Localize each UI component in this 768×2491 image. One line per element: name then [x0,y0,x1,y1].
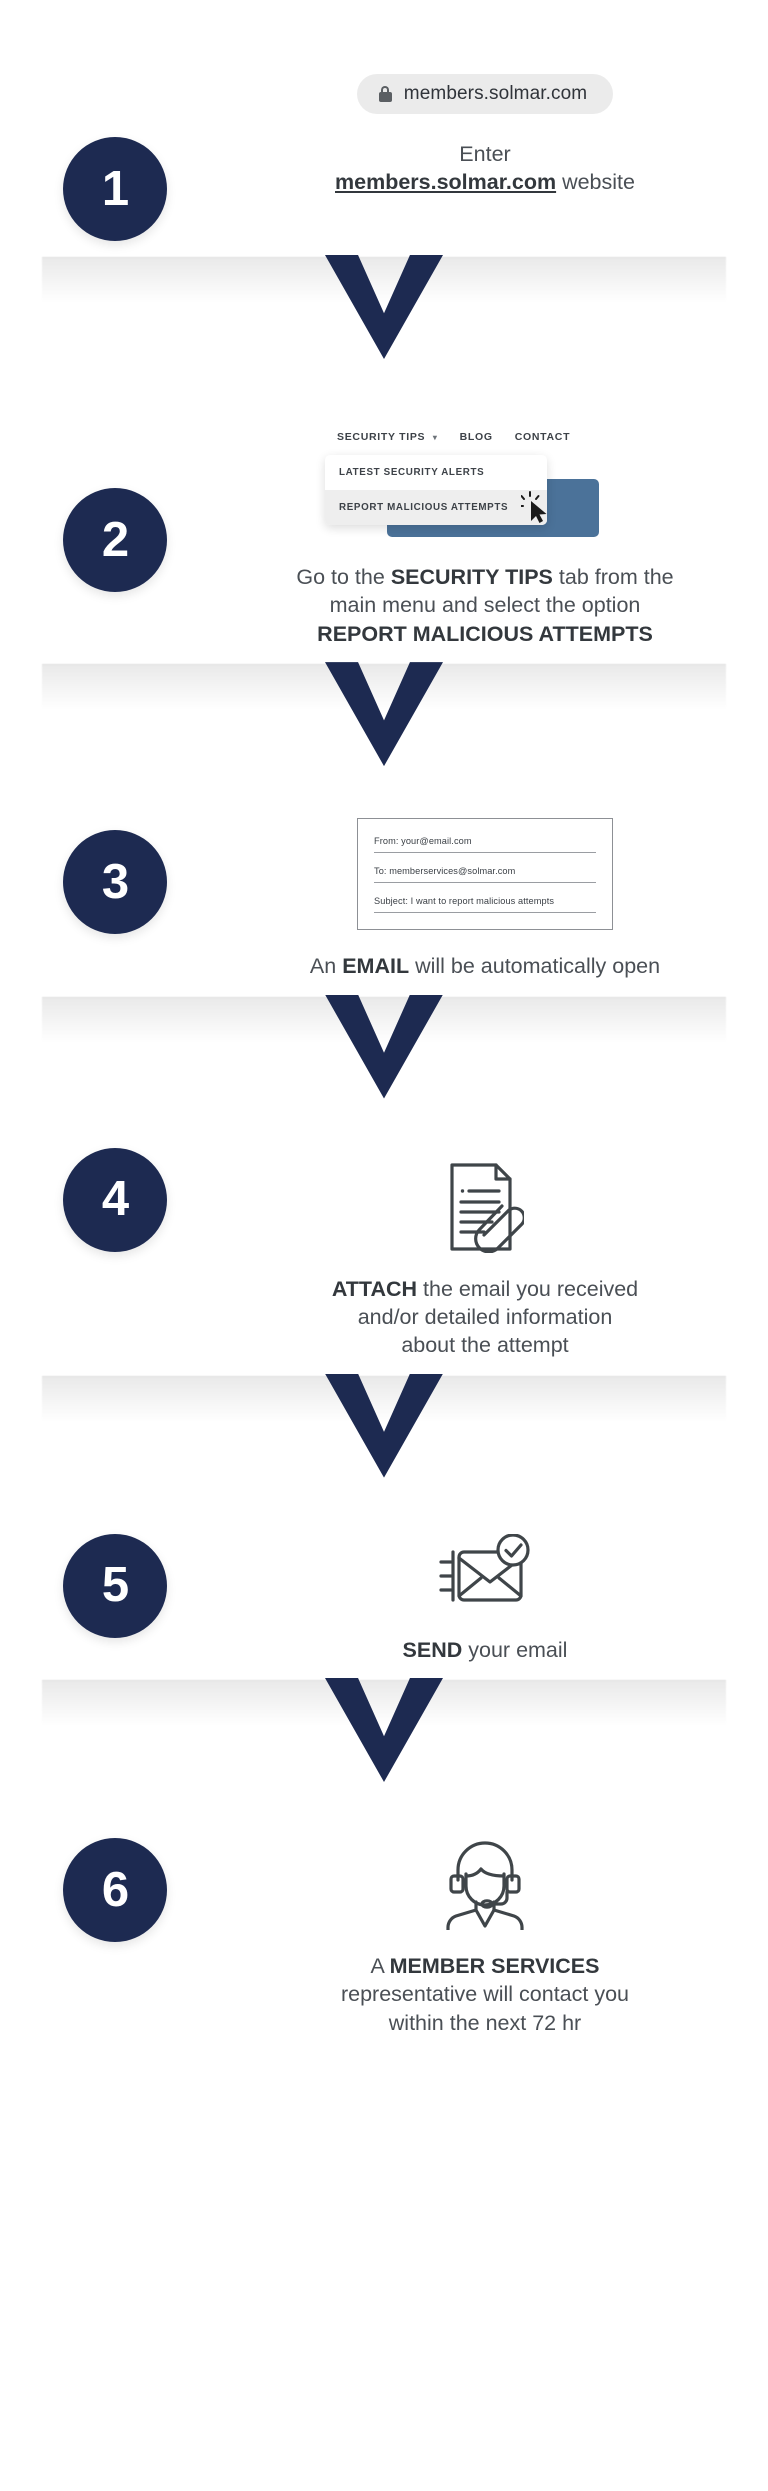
step-6-caption: A MEMBER SERVICES representative will co… [341,1952,629,2037]
step-4-caption-bold: ATTACH [332,1277,417,1301]
step-1-number-col: 1 [0,0,230,241]
email-from-field[interactable]: From: your@email.com [374,836,596,852]
lock-icon [379,86,392,102]
step-2-caption-bold1: SECURITY TIPS [391,565,553,589]
step-5-number-col: 5 [0,1492,230,1638]
step-5-content: SEND your email [230,1492,768,1664]
step-2: 2 SECURITY TIPS ▾ BLOG CONTACT LATEST SE… [0,373,768,648]
step-1-caption-line1: Enter [459,142,510,166]
infographic-page: 1 members.solmar.com Enter members.solma… [0,0,768,2491]
website-menu-mock: SECURITY TIPS ▾ BLOG CONTACT LATEST SECU… [325,431,645,549]
step-5-caption-rest: your email [468,1638,567,1662]
step-2-content: SECURITY TIPS ▾ BLOG CONTACT LATEST SECU… [230,373,768,648]
divider-band [42,664,726,710]
step-3-caption-post: will be automatically open [415,954,660,978]
step-4-number-badge: 4 [63,1148,167,1252]
chevron-divider-1 [0,241,768,373]
step-5-number-badge: 5 [63,1534,167,1638]
step-2-caption-post: tab from the [559,565,674,589]
chevron-divider-2 [0,648,768,780]
menu-item-latest-security-alerts[interactable]: LATEST SECURITY ALERTS [325,455,547,490]
step-6-caption-line2: representative will contact you [341,1982,629,2006]
step-6: 6 [0,1796,768,2037]
step-3-number-col: 3 [0,780,230,934]
nav-item-contact[interactable]: CONTACT [515,431,570,443]
step-1-number-badge: 1 [63,137,167,241]
main-nav: SECURITY TIPS ▾ BLOG CONTACT [337,431,570,443]
step-1-caption-domain: members.solmar.com [335,170,556,194]
email-subject-field[interactable]: Subject: I want to report malicious atte… [374,896,596,912]
step-5-caption: SEND your email [403,1636,568,1664]
divider-band [42,1680,726,1726]
click-cursor-icon [521,491,555,525]
email-to-row: To: memberservices@solmar.com [374,866,596,883]
step-4-caption-line1-rest: the email you received [423,1277,638,1301]
envelope-sent-check-icon [437,1534,533,1614]
step-4-number-col: 4 [0,1113,230,1252]
menu-item-report-malicious-attempts[interactable]: REPORT MALICIOUS ATTEMPTS [325,490,547,525]
step-2-number-badge: 2 [63,488,167,592]
step-4: 4 [0,1113,768,1360]
step-1-content: members.solmar.com Enter members.solmar.… [230,0,768,197]
step-4-icon-wrap [446,1161,524,1253]
dropdown-menu: LATEST SECURITY ALERTS REPORT MALICIOUS … [325,455,547,525]
chevron-divider-3 [0,981,768,1113]
field-underline [374,912,596,913]
step-2-caption-line2: main menu and select the option [330,593,641,617]
nav-label-security-tips: SECURITY TIPS [337,431,425,443]
page-bottom-spacer [0,2037,768,2083]
step-4-caption-line2: and/or detailed information [358,1305,613,1329]
divider-band [42,257,726,303]
support-agent-headset-icon [442,1838,528,1930]
field-underline [374,882,596,883]
step-2-number-col: 2 [0,373,230,592]
email-from-row: From: your@email.com [374,836,596,853]
step-3-caption-pre: An [310,954,336,978]
step-6-number-col: 6 [0,1796,230,1942]
step-4-caption: ATTACH the email you received and/or det… [332,1275,638,1360]
field-underline [374,852,596,853]
step-3-caption-bold: EMAIL [342,954,409,978]
step-5-icon-wrap [437,1534,533,1614]
url-input[interactable]: members.solmar.com [404,83,587,105]
email-to-field[interactable]: To: memberservices@solmar.com [374,866,596,882]
step-2-caption: Go to the SECURITY TIPS tab from the mai… [296,563,673,648]
divider-band [42,1376,726,1422]
step-5-caption-bold: SEND [403,1638,463,1662]
step-6-icon-wrap [442,1838,528,1930]
step-3: 3 From: your@email.com To: memberservice… [0,780,768,980]
step-4-caption-line3: about the attempt [401,1333,568,1357]
step-6-caption-pre: A [370,1954,383,1978]
step-3-caption: An EMAIL will be automatically open [310,952,660,980]
step-6-caption-bold: MEMBER SERVICES [390,1954,600,1978]
step-1: 1 members.solmar.com Enter members.solma… [0,0,768,241]
chevron-divider-4 [0,1360,768,1492]
step-1-caption-line2-rest: website [562,170,635,194]
email-compose-window: From: your@email.com To: memberservices@… [357,818,613,930]
step-2-caption-pre: Go to the [296,565,384,589]
step-1-caption: Enter members.solmar.com website [335,140,635,197]
step-6-content: A MEMBER SERVICES representative will co… [230,1796,768,2037]
divider-band [42,997,726,1043]
step-3-content: From: your@email.com To: memberservices@… [230,780,768,980]
nav-item-security-tips[interactable]: SECURITY TIPS ▾ [337,431,438,443]
chevron-down-icon: ▾ [433,433,438,442]
nav-item-blog[interactable]: BLOG [460,431,493,443]
step-6-caption-line3: within the next 72 hr [389,2011,581,2035]
browser-url-bar[interactable]: members.solmar.com [357,74,613,114]
step-3-number-badge: 3 [63,830,167,934]
email-subject-row: Subject: I want to report malicious atte… [374,896,596,913]
document-paperclip-icon [446,1161,524,1253]
step-6-number-badge: 6 [63,1838,167,1942]
step-5: 5 [0,1492,768,1664]
step-4-content: ATTACH the email you received and/or det… [230,1113,768,1360]
step-2-caption-bold2: REPORT MALICIOUS ATTEMPTS [317,622,653,646]
chevron-divider-5 [0,1664,768,1796]
